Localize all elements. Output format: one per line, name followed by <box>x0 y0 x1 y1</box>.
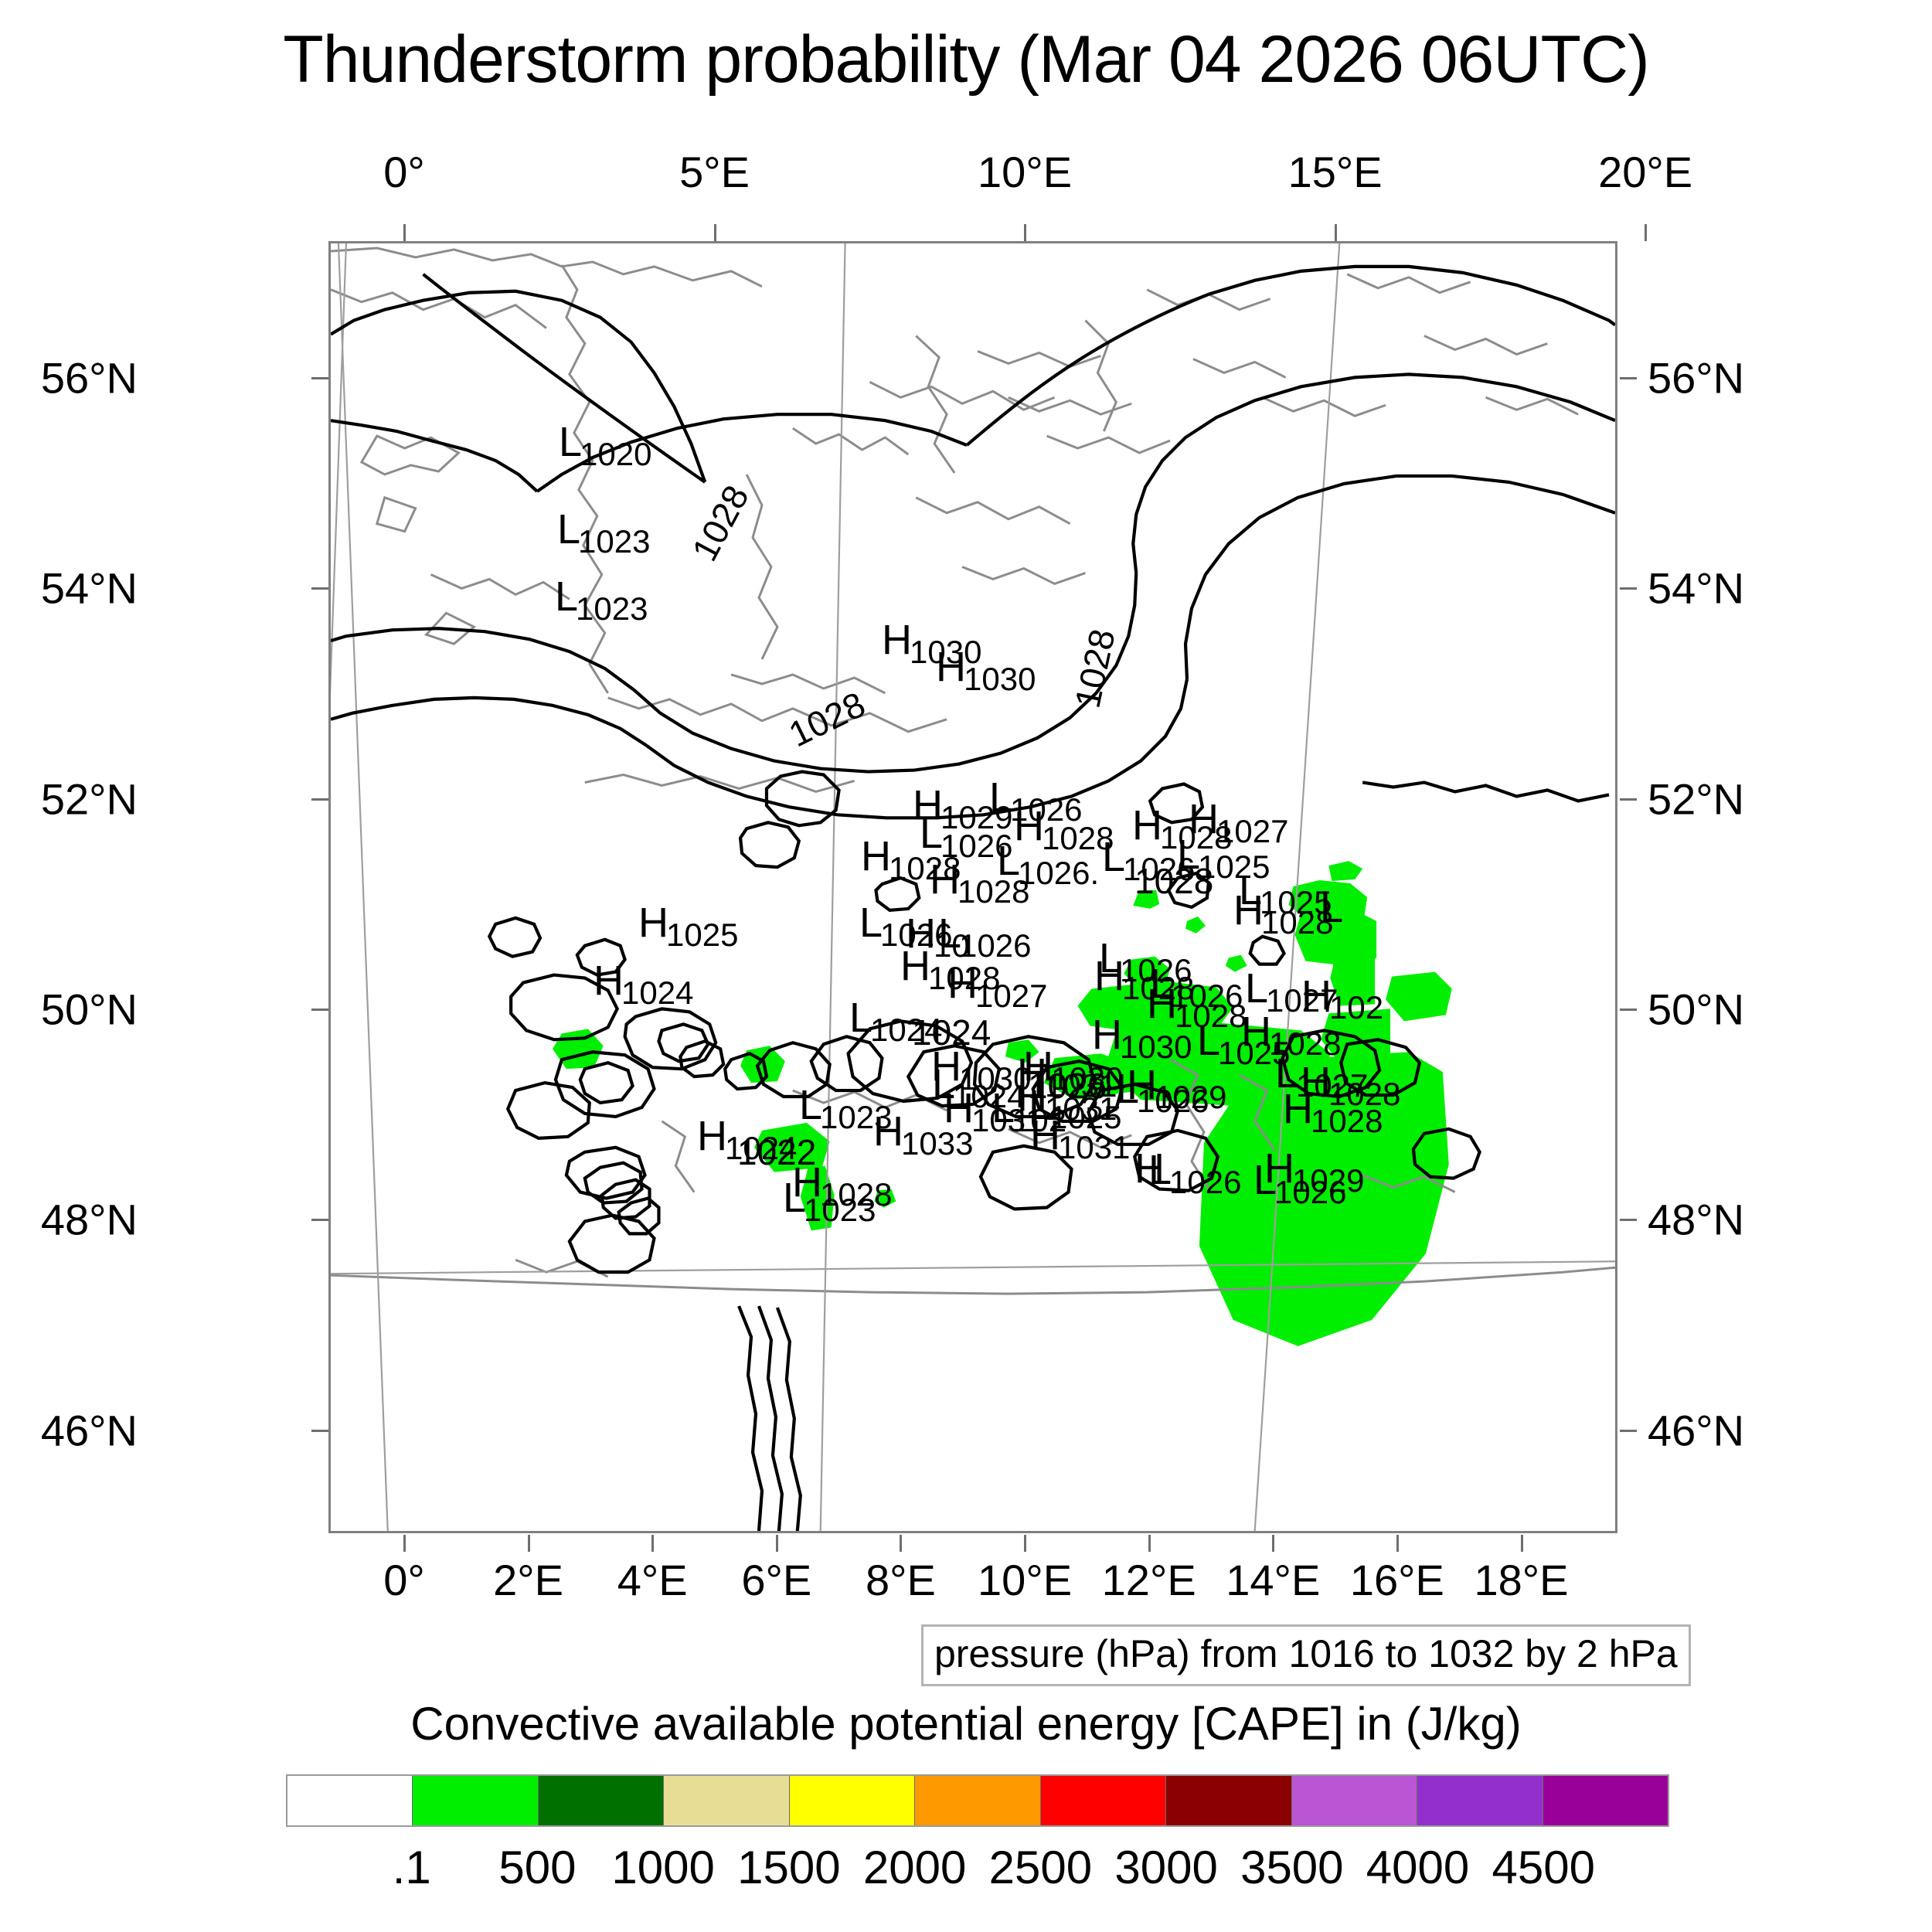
pressure-marker-type: H <box>936 644 966 690</box>
axis-tick-mark-right <box>1620 1009 1637 1011</box>
pressure-marker-value: 1033 <box>901 1125 973 1162</box>
pressure-marker-value: 1023 <box>804 1192 876 1228</box>
axis-tick-mark-right <box>1620 1219 1637 1221</box>
colorbar-caption: Convective available potential energy [C… <box>0 1697 1932 1750</box>
isobar-value-label: 1024 <box>912 1012 991 1053</box>
axis-tick-mark-top <box>403 224 406 241</box>
axis-tick-mark-right <box>1620 798 1637 801</box>
axis-tick-label-bottom: 8°E <box>866 1555 936 1605</box>
pressure-marker-value: 1026. <box>1018 855 1099 891</box>
colorbar-band-9[interactable] <box>1417 1776 1543 1825</box>
axis-tick-label-right: 48°N <box>1648 1195 1744 1245</box>
pressure-marker-value: 1026 <box>1274 1174 1346 1210</box>
colorbar-tick-9: 4500 <box>1492 1841 1595 1894</box>
pressure-marker-value: 1030 <box>964 661 1036 697</box>
axis-tick-label-right: 56°N <box>1648 353 1744 403</box>
axis-tick-mark-right <box>1620 1430 1637 1432</box>
axis-tick-label-top: 5°E <box>679 147 750 197</box>
pressure-marker-value: 1026 <box>1137 1083 1209 1119</box>
pressure-marker-type: H <box>1134 1145 1165 1192</box>
pressure-marker-l: L1020 <box>559 421 651 471</box>
colorbar-tick-3: 1500 <box>737 1841 840 1894</box>
axis-tick-label-left: 56°N <box>41 353 138 403</box>
axis-tick-mark-bottom <box>1024 1535 1026 1552</box>
pressure-marker-type: H <box>638 900 668 946</box>
pressure-marker-h: H1025 <box>638 902 738 951</box>
colorbar-tick-7: 3500 <box>1240 1841 1343 1894</box>
pressure-marker-type: L <box>859 900 883 946</box>
colorbar-band-3[interactable] <box>664 1776 789 1825</box>
axis-tick-label-bottom: 2°E <box>493 1555 563 1605</box>
axis-tick-mark-right <box>1620 587 1637 590</box>
pressure-marker-value: 1030 <box>1120 1029 1192 1065</box>
pressure-marker-l: L1023 <box>783 1177 876 1226</box>
colorbar-tick-0: .1 <box>393 1841 431 1894</box>
colorbar-tick-6: 3000 <box>1114 1841 1217 1894</box>
colorbar-band-2[interactable] <box>539 1776 664 1825</box>
pressure-marker-type: L <box>1320 885 1343 931</box>
colorbar-band-8[interactable] <box>1292 1776 1417 1825</box>
pressure-marker-l: L <box>1320 887 1341 937</box>
colorbar-tick-4: 2000 <box>863 1841 966 1894</box>
colorbar-band-1[interactable] <box>413 1776 538 1825</box>
axis-tick-mark-left <box>311 1009 328 1011</box>
pressure-marker-h: H1031 <box>1030 1114 1130 1164</box>
pressure-marker-type: L <box>1245 965 1268 1012</box>
colorbar-band-4[interactable] <box>790 1776 915 1825</box>
pressure-marker-type: H <box>1094 953 1124 999</box>
colorbar-tick-2: 1000 <box>611 1841 714 1894</box>
axis-tick-label-right: 50°N <box>1648 984 1744 1034</box>
axis-tick-mark-left <box>311 1219 328 1221</box>
axis-tick-mark-top <box>714 224 716 241</box>
pressure-marker-value: 1026 <box>1169 1164 1241 1200</box>
axis-tick-mark-bottom <box>900 1535 902 1552</box>
axis-tick-label-top: 20°E <box>1598 147 1692 197</box>
pressure-marker-type: H <box>697 1113 727 1159</box>
pressure-marker-value: 1023 <box>576 590 648 627</box>
axis-tick-label-left: 46°N <box>41 1405 138 1455</box>
pressure-marker-type: H <box>1283 1086 1313 1132</box>
pressure-marker-value: 1028 <box>1311 1103 1383 1139</box>
pressure-marker-type: L <box>799 1082 822 1128</box>
axis-tick-mark-left <box>311 798 328 801</box>
axis-tick-mark-bottom <box>776 1535 778 1552</box>
axis-tick-mark-left <box>311 587 328 590</box>
pressure-marker-l: L1026 <box>1116 1068 1209 1117</box>
axis-tick-label-bottom: 18°E <box>1474 1555 1568 1605</box>
axis-tick-label-top: 10°E <box>978 147 1072 197</box>
pressure-marker-type: L <box>1197 1018 1220 1064</box>
colorbar-band-5[interactable] <box>915 1776 1040 1825</box>
pressure-marker-h: H1028 <box>930 859 1029 908</box>
pressure-marker-l: L1026 <box>1253 1159 1346 1209</box>
axis-tick-mark-bottom <box>528 1535 530 1552</box>
colorbar-band-7[interactable] <box>1166 1776 1291 1825</box>
pressure-marker-value: 1023 <box>578 523 650 560</box>
axis-tick-mark-bottom <box>1148 1535 1151 1552</box>
axis-tick-label-right: 52°N <box>1648 774 1744 824</box>
colorbar-tick-8: 4000 <box>1366 1841 1469 1894</box>
axis-tick-label-left: 50°N <box>41 984 138 1034</box>
pressure-marker-type: H <box>900 943 930 989</box>
axis-tick-mark-top <box>1645 224 1647 241</box>
pressure-marker-type: H <box>594 957 624 1004</box>
pressure-marker-type: L <box>555 573 578 620</box>
axis-tick-mark-right <box>1620 377 1637 379</box>
axis-tick-label-left: 54°N <box>41 563 138 614</box>
axis-tick-label-bottom: 14°E <box>1226 1555 1320 1605</box>
colorbar-tick-labels: .150010001500200025003000350040004500 <box>286 1841 1669 1895</box>
axis-tick-mark-left <box>311 1430 328 1432</box>
pressure-marker-value: 1027 <box>975 978 1047 1014</box>
axis-tick-label-bottom: 10°E <box>978 1555 1072 1605</box>
pressure-marker-type: L <box>1102 834 1125 880</box>
axis-tick-label-right: 54°N <box>1648 563 1744 614</box>
colorbar-band-0[interactable] <box>287 1776 413 1825</box>
pressure-marker-value: 1020 <box>580 436 651 472</box>
axis-tick-mark-top <box>1335 224 1337 241</box>
pressure-marker-type: L <box>849 995 872 1041</box>
pressure-marker-l: L1023 <box>557 509 650 558</box>
page-title: Thunderstorm probability (Mar 04 2026 06… <box>0 22 1932 98</box>
pressure-marker-type: H <box>1233 887 1264 934</box>
pressure-marker-type: H <box>882 617 912 663</box>
pressure-marker-value: 1028 <box>957 873 1029 910</box>
axis-tick-label-left: 52°N <box>41 774 138 824</box>
axis-tick-mark-bottom <box>1272 1535 1274 1552</box>
cape-colorbar[interactable] <box>286 1774 1669 1827</box>
pressure-marker-type: L <box>559 419 582 465</box>
axis-tick-label-bottom: 16°E <box>1350 1555 1444 1605</box>
axis-tick-label-top: 0° <box>383 147 425 197</box>
axis-tick-mark-top <box>1024 224 1026 241</box>
pressure-marker-type: L <box>1253 1157 1277 1203</box>
pressure-marker-h: H1028 <box>1233 889 1333 939</box>
pressure-marker-type: H <box>861 833 891 879</box>
map-plot-area: L1020L1023L1023H1030H1030H1029L1026H1028… <box>328 241 1617 1533</box>
isobar-value-label: 1028 <box>1134 860 1213 902</box>
pressure-marker-value: 1024 <box>621 975 693 1011</box>
pressure-marker-type: H <box>1030 1112 1060 1158</box>
axis-tick-mark-bottom <box>1521 1535 1523 1552</box>
pressure-marker-l: L1023 <box>555 576 648 625</box>
pressure-marker-type: L <box>783 1175 806 1221</box>
colorbar-tick-1: 500 <box>498 1841 576 1894</box>
axis-tick-label-bottom: 12°E <box>1102 1555 1196 1605</box>
isobar-value-label: 1026 <box>1028 1065 1107 1107</box>
axis-tick-label-bottom: 4°E <box>617 1555 688 1605</box>
axis-tick-mark-bottom <box>1396 1535 1399 1552</box>
axis-tick-mark-bottom <box>651 1535 654 1552</box>
pressure-marker-value: 1025 <box>666 917 738 953</box>
axis-tick-label-bottom: 6°E <box>741 1555 811 1605</box>
axis-tick-label-right: 46°N <box>1648 1405 1744 1455</box>
axis-tick-mark-left <box>311 377 328 379</box>
pressure-marker-type: H <box>873 1108 903 1155</box>
isobar-value-label: 1022 <box>737 1131 816 1173</box>
pressure-marker-h: H1024 <box>594 960 693 1009</box>
pressure-marker-type: H <box>947 961 978 1007</box>
pressure-marker-h: H1033 <box>873 1111 973 1160</box>
colorbar-band-6[interactable] <box>1041 1776 1166 1825</box>
pressure-marker-h: H1027 <box>947 963 1047 1012</box>
pressure-marker-type: H <box>930 856 960 903</box>
colorbar-tick-5: 2500 <box>989 1841 1092 1894</box>
pressure-marker-type: L <box>557 506 580 553</box>
pressure-marker-h: H1028 <box>1283 1088 1383 1138</box>
pressure-marker-type: H <box>1241 1009 1271 1055</box>
axis-tick-label-top: 15°E <box>1288 147 1383 197</box>
axis-tick-label-left: 48°N <box>41 1195 138 1245</box>
pressure-marker-type: L <box>992 1085 1015 1131</box>
colorbar-band-10[interactable] <box>1543 1776 1668 1825</box>
pressure-marker-h: H <box>1134 1148 1162 1197</box>
pressure-legend-box: pressure (hPa) from 1016 to 1032 by 2 hP… <box>921 1624 1691 1686</box>
pressure-marker-h: H1030 <box>936 646 1036 696</box>
pressure-marker-value: 1031 <box>1058 1129 1130 1165</box>
axis-tick-label-bottom: 0° <box>383 1555 425 1605</box>
axis-tick-mark-bottom <box>403 1535 406 1552</box>
